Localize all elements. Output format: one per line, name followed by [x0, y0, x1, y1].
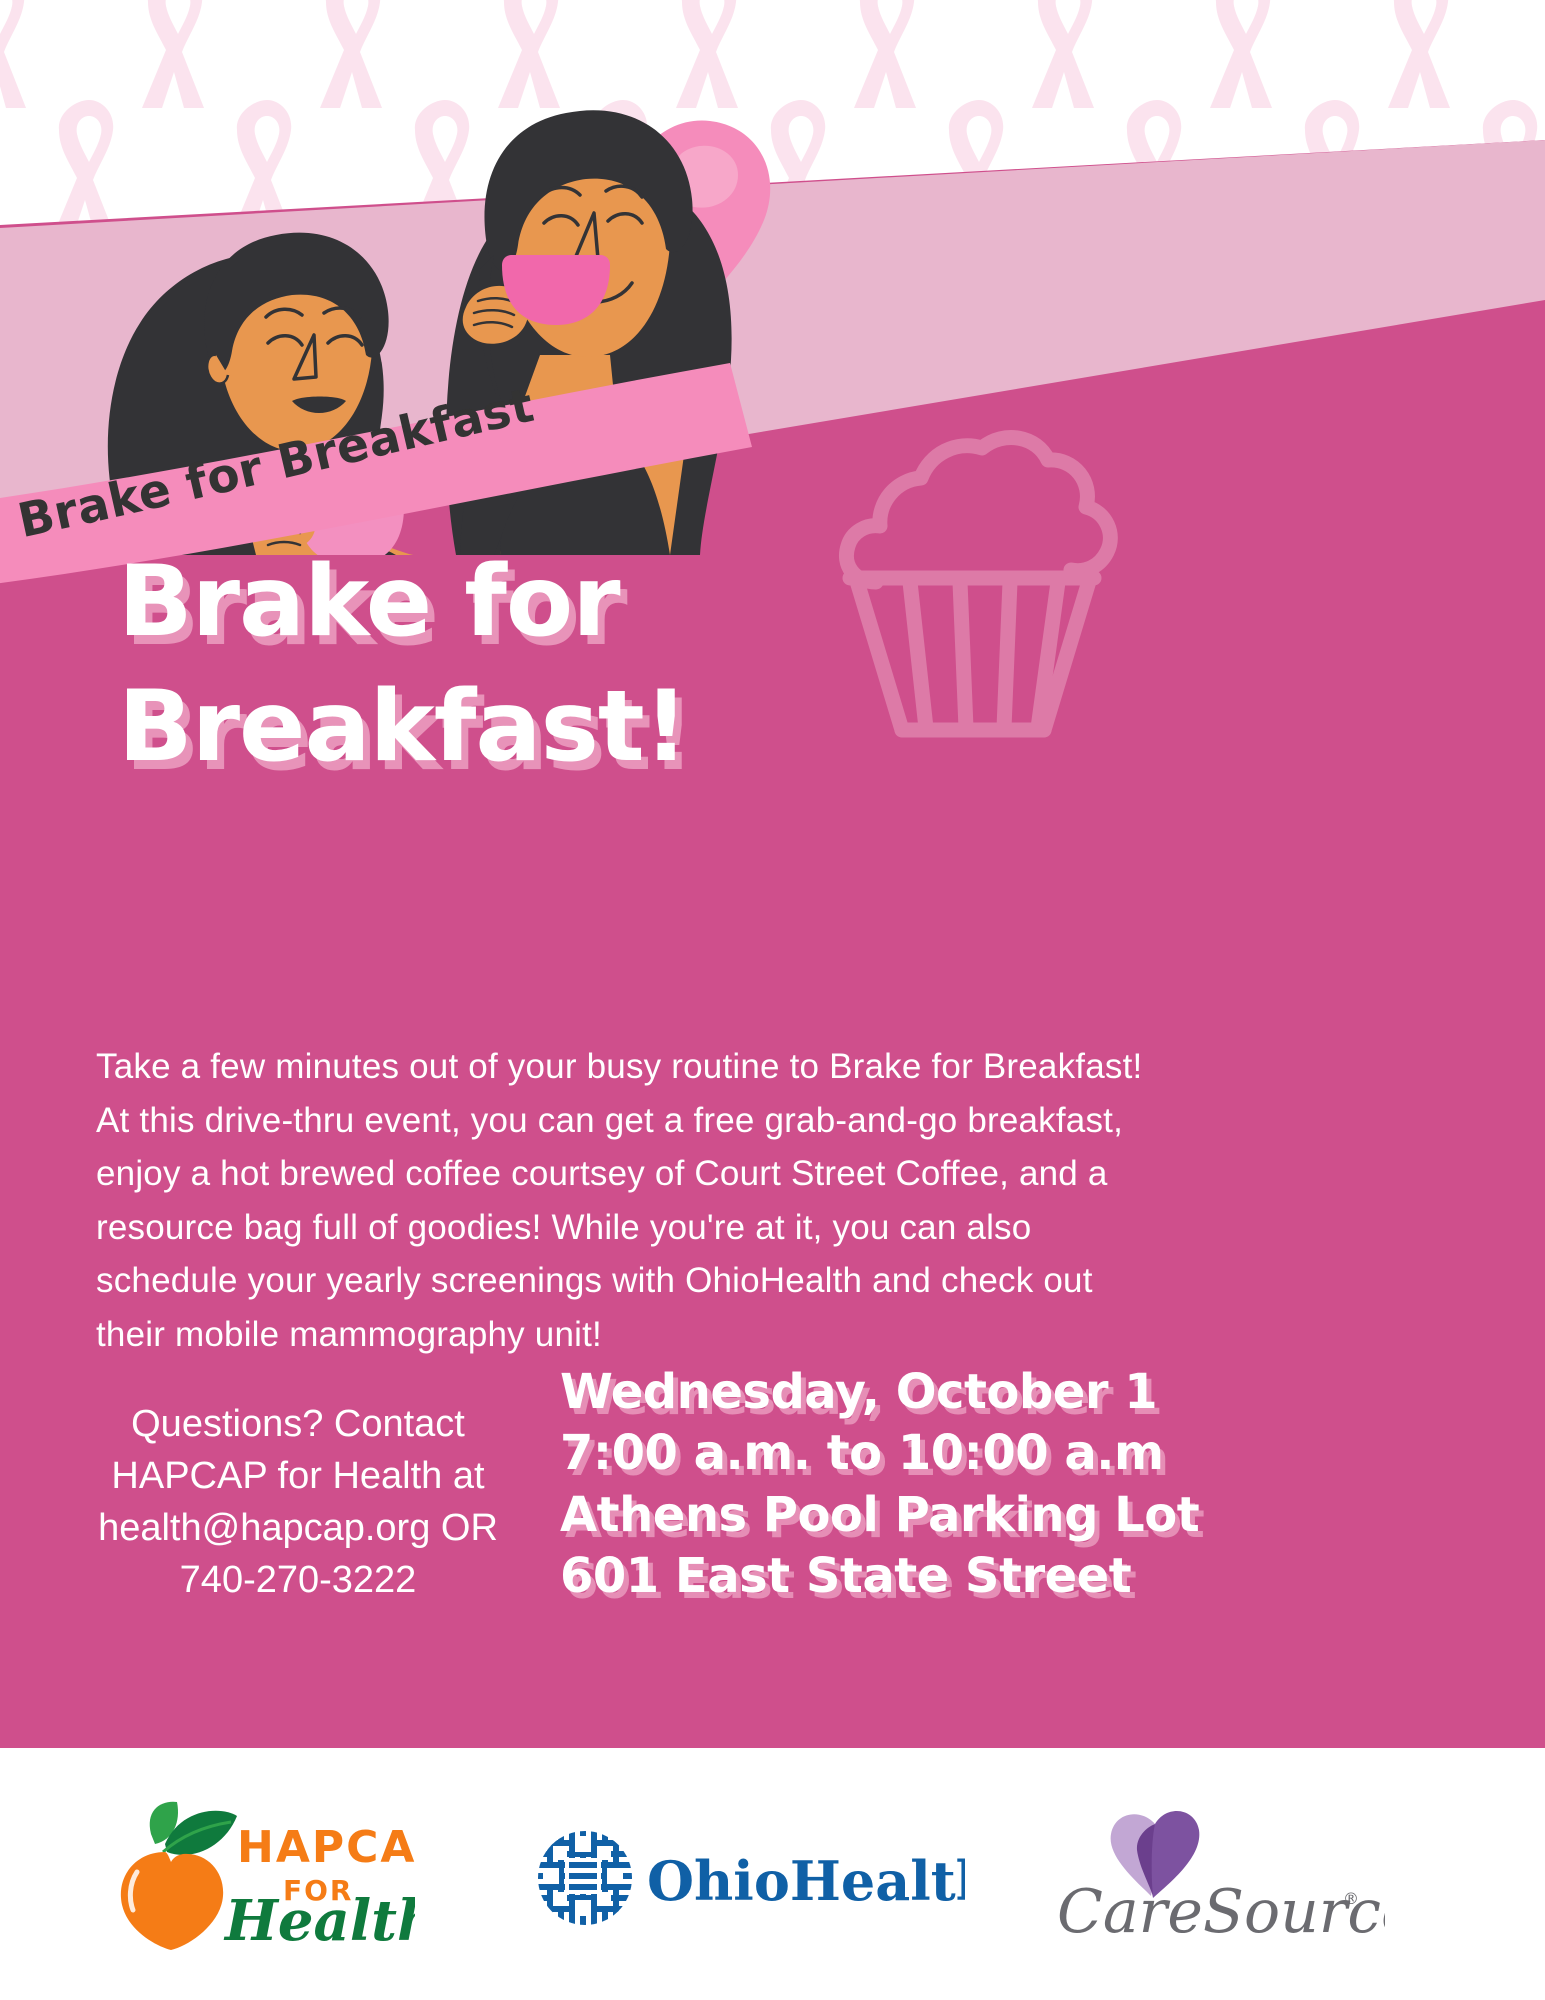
hapcap-for-health-logo: HAPCAP FOR Health: [85, 1800, 415, 1950]
contact-block: Questions? Contact HAPCAP for Health at …: [88, 1398, 508, 1606]
contact-email-line[interactable]: health@hapcap.org OR: [88, 1502, 508, 1554]
ohiohealth-logo: OhioHealth: [535, 1828, 965, 1928]
event-address: 601 East State Street: [560, 1546, 1260, 1607]
two-women-with-coffee-illustration: [70, 55, 790, 555]
caresource-wordmark: CareSource: [1057, 1877, 1385, 1947]
caresource-registered-mark: ®: [1343, 1889, 1359, 1908]
headline-line-1: Brake for: [118, 540, 858, 665]
headline-line-2: Breakfast!: [118, 665, 858, 790]
description-paragraph: Take a few minutes out of your busy rout…: [96, 1040, 1156, 1361]
event-date: Wednesday, October 1: [560, 1362, 1260, 1423]
page-title: Brake for Breakfast!: [118, 540, 858, 791]
caresource-logo: CareSource ®: [1055, 1800, 1385, 1950]
hapcap-wordmark: HAPCAP: [237, 1822, 415, 1873]
event-time: 7:00 a.m. to 10:00 a.m: [560, 1423, 1260, 1484]
event-venue: Athens Pool Parking Lot: [560, 1485, 1260, 1546]
flyer-page: Brake for Breakfast Brake for Breakfast!…: [0, 0, 1545, 2000]
left-woman: [108, 233, 414, 555]
ohiohealth-weave-icon: [535, 1828, 640, 1928]
contact-line-1: Questions? Contact: [88, 1398, 508, 1450]
hapcap-health-script: Health: [223, 1888, 415, 1950]
ohiohealth-wordmark: OhioHealth: [647, 1849, 965, 1913]
contact-phone-line[interactable]: 740-270-3222: [88, 1554, 508, 1606]
contact-line-2: HAPCAP for Health at: [88, 1450, 508, 1502]
event-details-block: Wednesday, October 1 7:00 a.m. to 10:00 …: [560, 1362, 1260, 1608]
